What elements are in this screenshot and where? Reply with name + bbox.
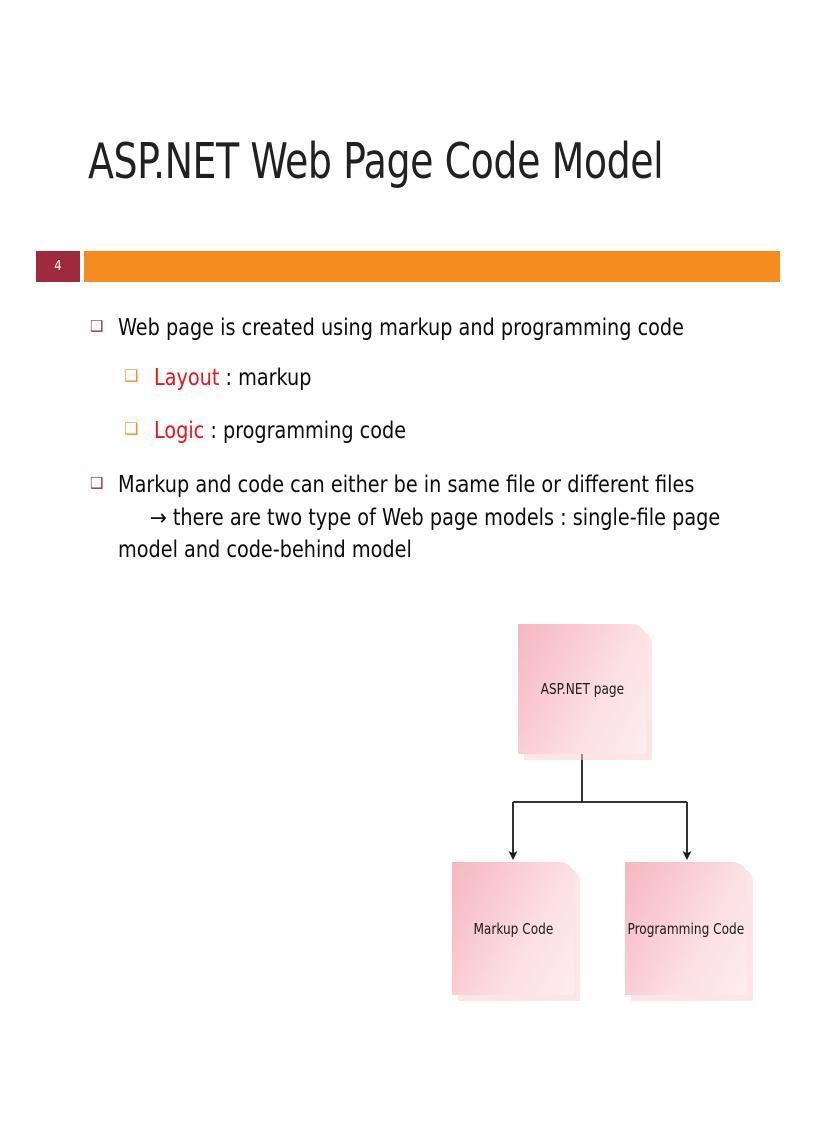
diagram-node-programming-code: Programming Code bbox=[625, 862, 747, 995]
bullet-text-4-line2-text: there are two type of Web page models : … bbox=[167, 505, 720, 531]
aspnet-page-model-diagram: ASP.NET page Markup Code Programming Cod… bbox=[420, 612, 810, 1012]
divider-bar bbox=[84, 251, 780, 282]
bullet-text-3: Logic : programming code bbox=[154, 415, 725, 448]
bullet-text-3-rest: : programming code bbox=[204, 418, 406, 444]
keyword-layout: Layout bbox=[154, 365, 219, 391]
bullet-item-2: ❑ Layout : markup bbox=[88, 362, 768, 395]
bullet-item-4: ❑ Markup and code can either be in same … bbox=[88, 469, 768, 567]
keyword-logic: Logic bbox=[154, 418, 204, 444]
page-title: ASP.NET Web Page Code Model bbox=[88, 136, 690, 187]
diagram-node-markup-code: Markup Code bbox=[452, 862, 574, 995]
diagram-node-label: ASP.NET page bbox=[540, 680, 623, 698]
bullet-text-1: Web page is created using markup and pro… bbox=[118, 312, 723, 345]
square-bullet-icon: ❑ bbox=[124, 421, 138, 437]
title-divider: 4 bbox=[36, 251, 780, 282]
bullet-item-1: ❑ Web page is created using markup and p… bbox=[88, 312, 768, 345]
slide-body: ❑ Web page is created using markup and p… bbox=[88, 312, 768, 584]
bullet-text-4-line2: → there are two type of Web page models … bbox=[118, 502, 723, 535]
diagram-node-label: Markup Code bbox=[473, 920, 553, 938]
bullet-text-4-line3: model and code-behind model bbox=[118, 534, 723, 567]
square-bullet-icon: ❑ bbox=[90, 476, 103, 491]
square-bullet-icon: ❑ bbox=[124, 368, 138, 384]
bullet-text-2-rest: : markup bbox=[219, 365, 311, 391]
bullet-item-3: ❑ Logic : programming code bbox=[88, 415, 768, 448]
bullet-text-4: Markup and code can either be in same fi… bbox=[118, 469, 723, 567]
right-arrow-icon: → bbox=[150, 506, 167, 531]
bullet-text-4-line1: Markup and code can either be in same fi… bbox=[118, 469, 723, 502]
slide-canvas: ASP.NET Web Page Code Model 4 ❑ Web page… bbox=[0, 0, 816, 1123]
diagram-node-label: Programming Code bbox=[628, 920, 745, 938]
slide-number-badge: 4 bbox=[36, 251, 80, 282]
bullet-text-2: Layout : markup bbox=[154, 362, 725, 395]
square-bullet-icon: ❑ bbox=[90, 319, 103, 334]
diagram-node-aspnet-page: ASP.NET page bbox=[518, 624, 646, 754]
